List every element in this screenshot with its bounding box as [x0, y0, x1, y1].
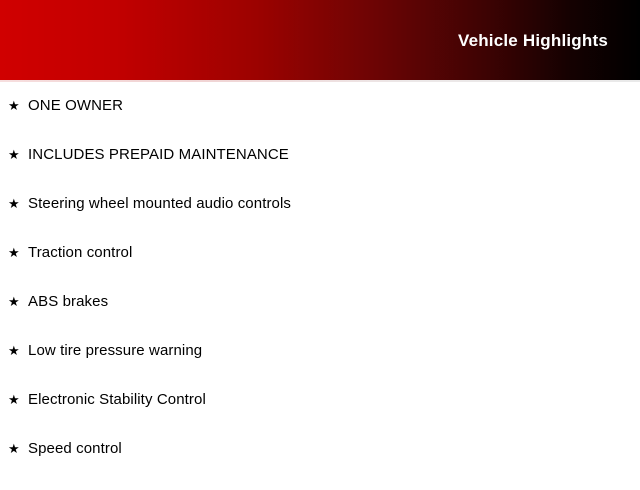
star-icon: ★	[8, 99, 28, 112]
list-item: ★ ONE OWNER	[0, 98, 640, 147]
page-title: Vehicle Highlights	[458, 32, 608, 49]
list-item-label: ABS brakes	[28, 294, 640, 309]
list-item: ★ Electronic Stability Control	[0, 392, 640, 441]
list-item: ★ ABS brakes	[0, 294, 640, 343]
star-icon: ★	[8, 442, 28, 455]
list-item-label: INCLUDES PREPAID MAINTENANCE	[28, 147, 640, 162]
list-item: ★ Speed control	[0, 441, 640, 490]
list-item: ★ Traction control	[0, 245, 640, 294]
vehicle-highlights-list: ★ ONE OWNER ★ INCLUDES PREPAID MAINTENAN…	[0, 82, 640, 490]
star-icon: ★	[8, 295, 28, 308]
list-item-label: Speed control	[28, 441, 640, 456]
star-icon: ★	[8, 393, 28, 406]
star-icon: ★	[8, 246, 28, 259]
star-icon: ★	[8, 197, 28, 210]
list-item: ★ INCLUDES PREPAID MAINTENANCE	[0, 147, 640, 196]
star-icon: ★	[8, 344, 28, 357]
list-item: ★ Steering wheel mounted audio controls	[0, 196, 640, 245]
list-item: ★ Low tire pressure warning	[0, 343, 640, 392]
list-item-label: Steering wheel mounted audio controls	[28, 196, 640, 211]
header-banner: Vehicle Highlights	[0, 0, 640, 80]
list-item-label: Traction control	[28, 245, 640, 260]
vehicle-highlights-panel: Vehicle Highlights ★ ONE OWNER ★ INCLUDE…	[0, 0, 640, 480]
list-item-label: Low tire pressure warning	[28, 343, 640, 358]
list-item-label: ONE OWNER	[28, 98, 640, 113]
list-item-label: Electronic Stability Control	[28, 392, 640, 407]
star-icon: ★	[8, 148, 28, 161]
